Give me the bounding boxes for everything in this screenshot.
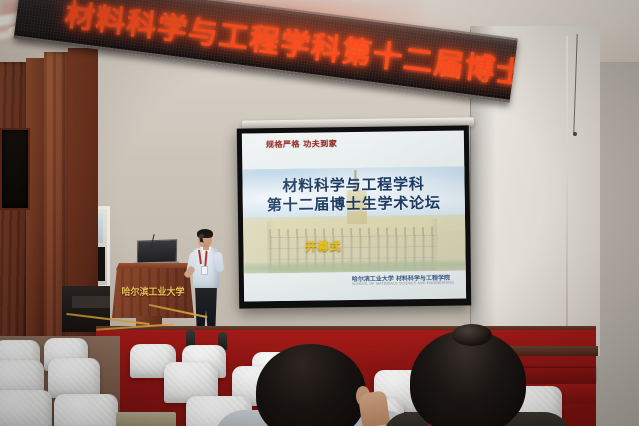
foreground-person-left-hand (358, 390, 390, 426)
audience-chair-seat (116, 412, 176, 426)
slide-subtitle: 开幕式 (305, 238, 341, 255)
cable-end-fitting (573, 132, 577, 136)
podium-label: 哈尔滨工业大学 (118, 285, 188, 299)
audience-chair (54, 394, 118, 426)
projector-screen-frame: 规格严格 功夫到家 材料科学与工程学科 第十二届博士生学术论坛 开幕式 哈尔滨工… (237, 125, 471, 308)
projected-slide: 规格严格 功夫到家 材料科学与工程学科 第十二届博士生学术论坛 开幕式 哈尔滨工… (242, 130, 466, 301)
foreground-person-right-hair-bun (452, 324, 492, 346)
wall-seam (566, 36, 568, 356)
photo-scene: 材料科学与工程学科第十二届博士生学术论坛 规格严格 功夫到家 材料科学与工程学科… (0, 0, 639, 426)
microphone-capsule-icon (199, 234, 204, 238)
slide-title-line2: 第十二届博士生学术论坛 (243, 193, 465, 215)
wood-pillar-left-mid (26, 58, 46, 363)
speaker-hand (199, 242, 204, 247)
audience-chair (48, 358, 100, 398)
audience-chair (0, 390, 52, 426)
wall-speaker-icon (0, 128, 30, 210)
slide-title: 材料科学与工程学科 第十二届博士生学术论坛 (242, 174, 465, 215)
speaker-name-badge (201, 266, 208, 275)
slide-motto: 规格严格 功夫到家 (266, 138, 337, 150)
av-equipment-shelf (72, 296, 110, 308)
